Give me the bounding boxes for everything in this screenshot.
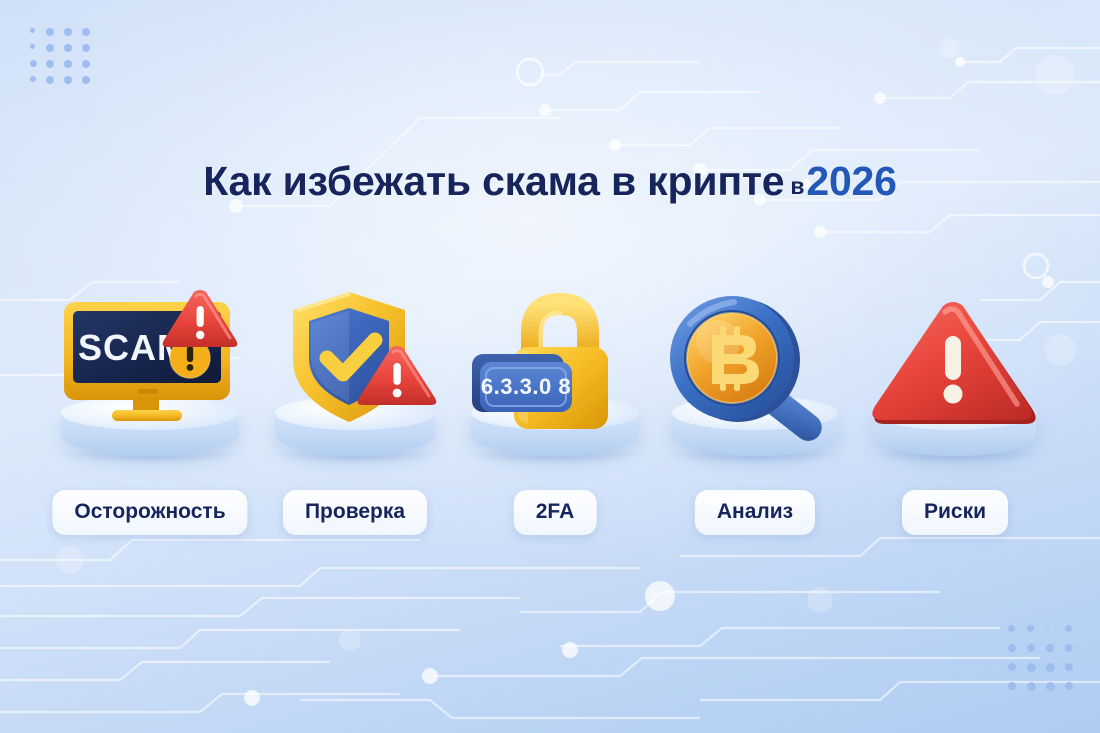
padlock-code-icon: 6.3.3.0 8 — [462, 292, 648, 434]
magnifier-bitcoin-art — [655, 278, 855, 474]
item-analysis[interactable]: Анализ — [655, 278, 855, 538]
pill-label-text: Осторожность — [74, 500, 225, 523]
shield-check-icon — [265, 286, 445, 434]
page-title: Как избежать скама в криптев2026 — [203, 158, 897, 205]
item-2fa[interactable]: 6.3.3.0 8 2FA — [455, 278, 655, 538]
label-pill-risks[interactable]: Риски — [902, 490, 1008, 535]
title-block: Как избежать скама в криптев2026 — [0, 158, 1100, 205]
label-pill-cautiousness[interactable]: Осторожность — [52, 490, 247, 535]
title-year-text: 2026 — [806, 158, 896, 204]
dot-grid-top-left — [30, 28, 92, 86]
item-cautiousness[interactable]: SCAM Осторожность — [45, 278, 255, 538]
magnifier-bitcoin-icon — [660, 294, 850, 444]
icon-row: SCAM Осторожность — [0, 278, 1100, 538]
item-risks[interactable]: Риски — [855, 278, 1055, 538]
label-pill-2fa[interactable]: 2FA — [514, 490, 597, 535]
title-main-text: Как избежать скама в крипте — [203, 158, 784, 204]
dot-grid-bottom-right — [1008, 625, 1070, 683]
label-pill-verification[interactable]: Проверка — [283, 490, 427, 535]
code-card-text: 6.3.3.0 8 — [481, 374, 571, 399]
pill-label-text: 2FA — [536, 500, 575, 523]
pill-label-text: Риски — [924, 500, 986, 523]
item-verification[interactable]: Проверка — [255, 278, 455, 538]
shield-check-art — [255, 278, 455, 474]
warning-triangle-icon — [865, 300, 1045, 434]
warning-triangle-art — [855, 278, 1055, 474]
padlock-code-art: 6.3.3.0 8 — [455, 278, 655, 474]
pill-label-text: Анализ — [717, 500, 793, 523]
label-pill-analysis[interactable]: Анализ — [695, 490, 815, 535]
title-connector-text: в — [784, 173, 806, 199]
scam-monitor-art: SCAM — [45, 278, 255, 474]
poster-canvas: Как избежать скама в криптев2026 — [0, 0, 1100, 733]
pill-label-text: Проверка — [305, 500, 405, 523]
scam-monitor-icon: SCAM — [50, 288, 250, 438]
